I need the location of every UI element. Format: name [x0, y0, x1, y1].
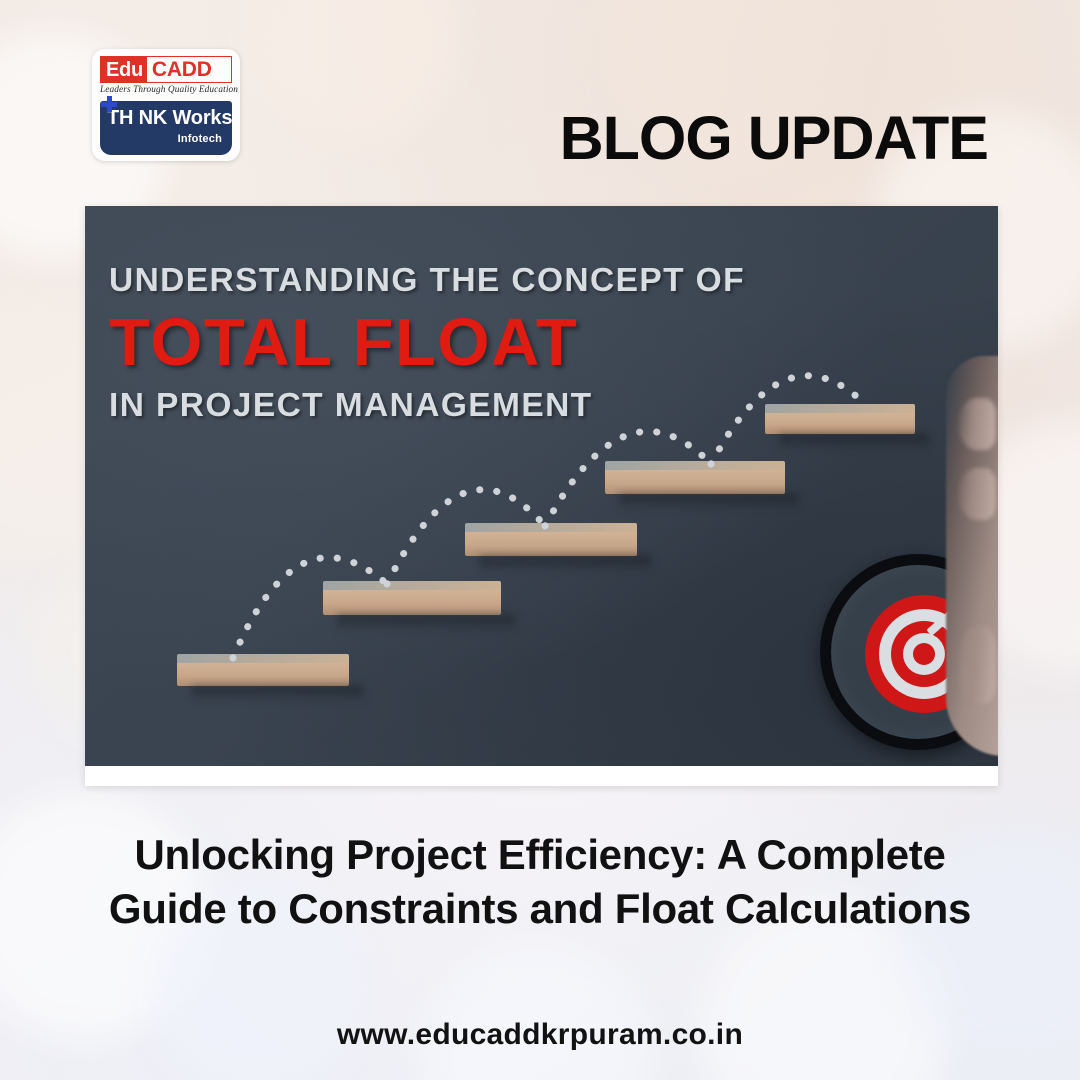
plus-icon	[101, 96, 117, 112]
logo-edu-text: Edu	[101, 57, 147, 82]
website-url[interactable]: www.educaddkrpuram.co.in	[0, 1018, 1080, 1052]
logo-cadd-text: CADD	[147, 57, 216, 82]
brand-logo[interactable]: Edu CADD Leaders Through Quality Educati…	[92, 49, 240, 161]
hand-knuckle	[958, 398, 996, 450]
logo-works-text: Works	[167, 107, 232, 129]
featured-image-frame: UNDERSTANDING THE CONCEPT OF TOTAL FLOAT…	[85, 206, 998, 786]
featured-image: UNDERSTANDING THE CONCEPT OF TOTAL FLOAT…	[85, 206, 998, 766]
logo-educadd-wordmark: Edu CADD	[100, 56, 232, 83]
blog-update-poster: Edu CADD Leaders Through Quality Educati…	[0, 0, 1080, 1080]
logo-tagline: Leaders Through Quality Education	[100, 85, 232, 95]
featured-image-bottom-strip	[85, 766, 998, 786]
logo-thinkworks-section: THINK Works Infotech	[100, 101, 232, 155]
logo-think-works-text: THINK Works	[107, 107, 224, 130]
blog-update-title: BLOG UPDATE	[560, 108, 988, 169]
hand-knuckle	[958, 468, 996, 520]
target-bullseye-center	[913, 643, 935, 665]
post-headline: Unlocking Project Efficiency: A Complete…	[90, 828, 990, 936]
hand-knuckle	[958, 626, 996, 704]
logo-think-suffix: NK	[139, 107, 168, 129]
logo-educadd-section: Edu CADD Leaders Through Quality Educati…	[92, 49, 240, 103]
logo-infotech-text: Infotech	[107, 133, 224, 145]
